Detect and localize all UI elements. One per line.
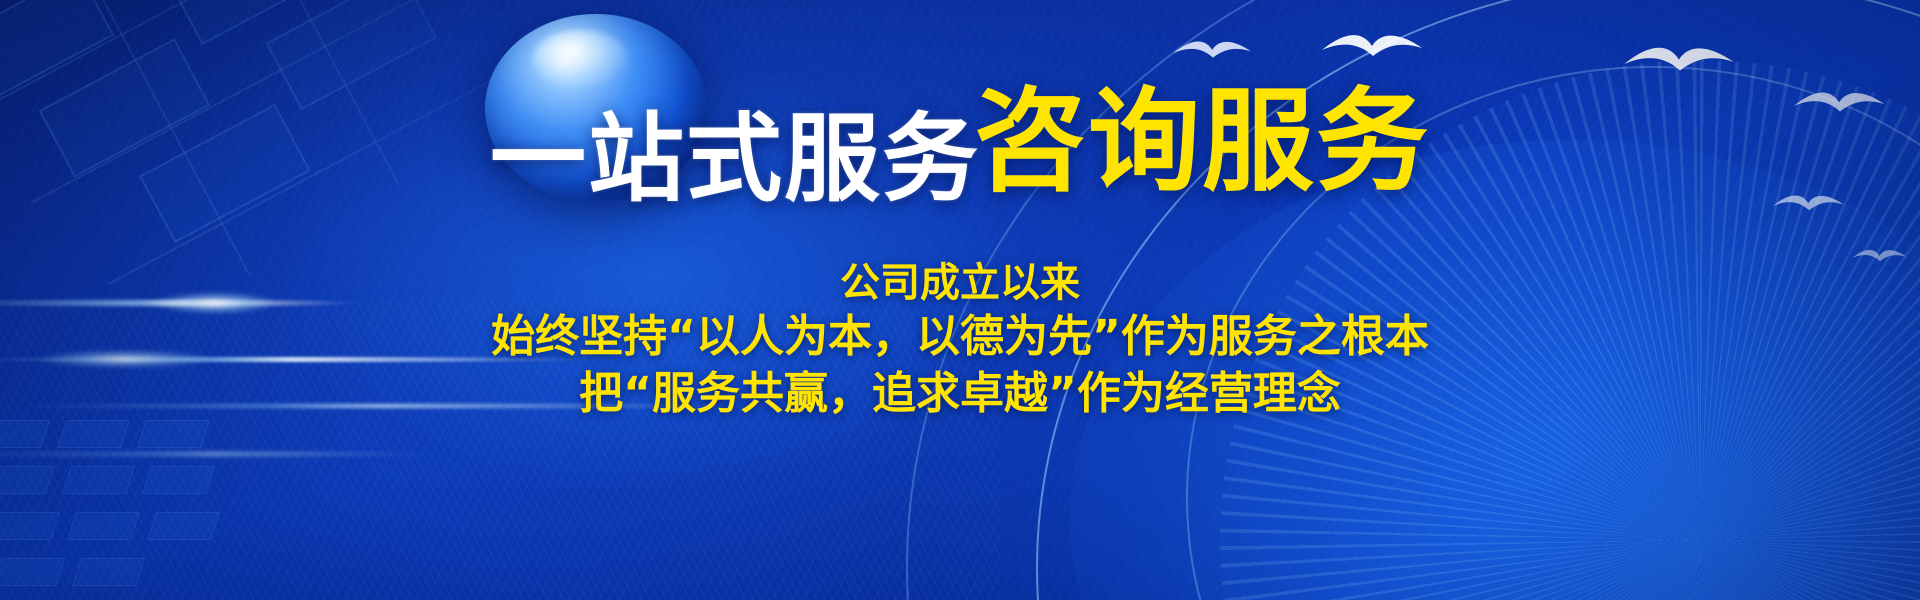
subtext-line-1: 公司成立以来	[0, 258, 1920, 309]
subtext-line-3: 把“服务共赢，追求卓越”作为经营理念	[0, 366, 1920, 422]
subtext-line-2: 始终坚持“以人为本，以德为先”作为服务之根本	[0, 309, 1920, 365]
headline-primary: 一站式服务	[490, 103, 980, 215]
subtext-block: 公司成立以来 始终坚持“以人为本，以德为先”作为服务之根本 把“服务共赢，追求卓…	[0, 258, 1920, 422]
headline-accent: 咨询服务	[974, 77, 1430, 207]
promo-banner: 一站式服务咨询服务 公司成立以来 始终坚持“以人为本，以德为先”作为服务之根本 …	[0, 0, 1920, 600]
headline: 一站式服务咨询服务	[0, 86, 1920, 207]
sphere-highlight	[533, 30, 629, 88]
